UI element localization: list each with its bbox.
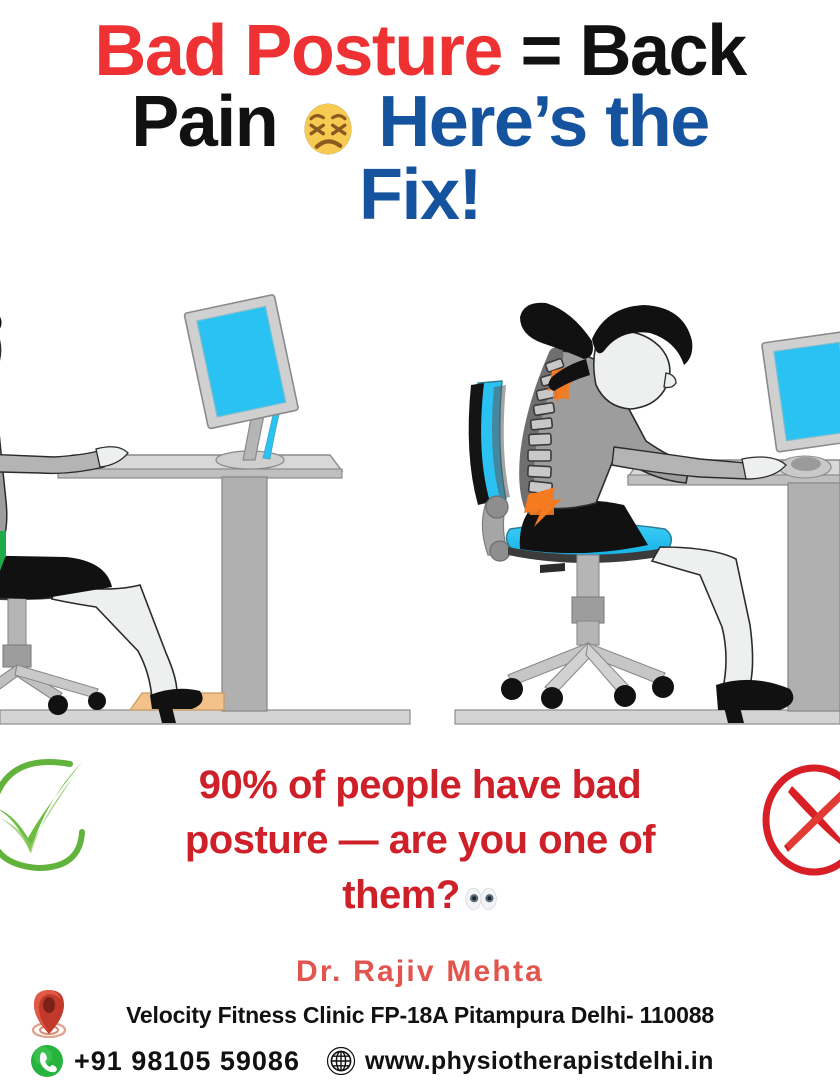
good-posture-figure	[0, 294, 410, 724]
poster: Bad Posture = Back Pain Here’s the Fix!	[0, 0, 840, 1080]
headline-blue-text: Here’s the	[378, 82, 708, 162]
stat-line-3-text: them?	[342, 873, 460, 917]
headline-black-text: Back	[580, 11, 746, 91]
headline-line-1: Bad Posture = Back	[0, 16, 840, 87]
headline-line-2: Pain Here’s the	[0, 87, 840, 160]
red-cross-mark-icon	[758, 760, 840, 880]
confounded-face-icon	[298, 98, 358, 160]
contact-row: +91 98105 59086 www.physiotherapistdelhi…	[0, 1040, 840, 1080]
stat-callout: 90% of people have bad posture — are you…	[120, 758, 720, 924]
eyes-icon	[464, 886, 498, 912]
green-check-mark-icon	[0, 748, 94, 876]
headline-line-3: Fix!	[0, 160, 840, 231]
phone-icon[interactable]	[30, 1044, 64, 1078]
headline-pain-text: Pain	[131, 82, 277, 162]
posture-illustration	[0, 255, 840, 740]
bad-posture-figure	[455, 303, 840, 724]
globe-icon	[326, 1046, 356, 1076]
headline-red-text: Bad Posture	[94, 11, 502, 91]
website-url[interactable]: www.physiotherapistdelhi.in	[365, 1047, 714, 1076]
phone-number[interactable]: +91 98105 59086	[74, 1046, 300, 1077]
stat-line-2: posture — are you one of	[120, 813, 720, 868]
doctor-name: Dr. Rajiv Mehta	[0, 955, 840, 989]
headline-fix-text: Fix!	[359, 155, 481, 235]
headline: Bad Posture = Back Pain Here’s the Fix!	[0, 16, 840, 230]
headline-equals: =	[502, 11, 580, 91]
stat-line-1: 90% of people have bad	[120, 758, 720, 813]
stat-line-3: them?	[120, 868, 720, 923]
clinic-address: Velocity Fitness Clinic FP-18A Pitampura…	[0, 1002, 840, 1029]
